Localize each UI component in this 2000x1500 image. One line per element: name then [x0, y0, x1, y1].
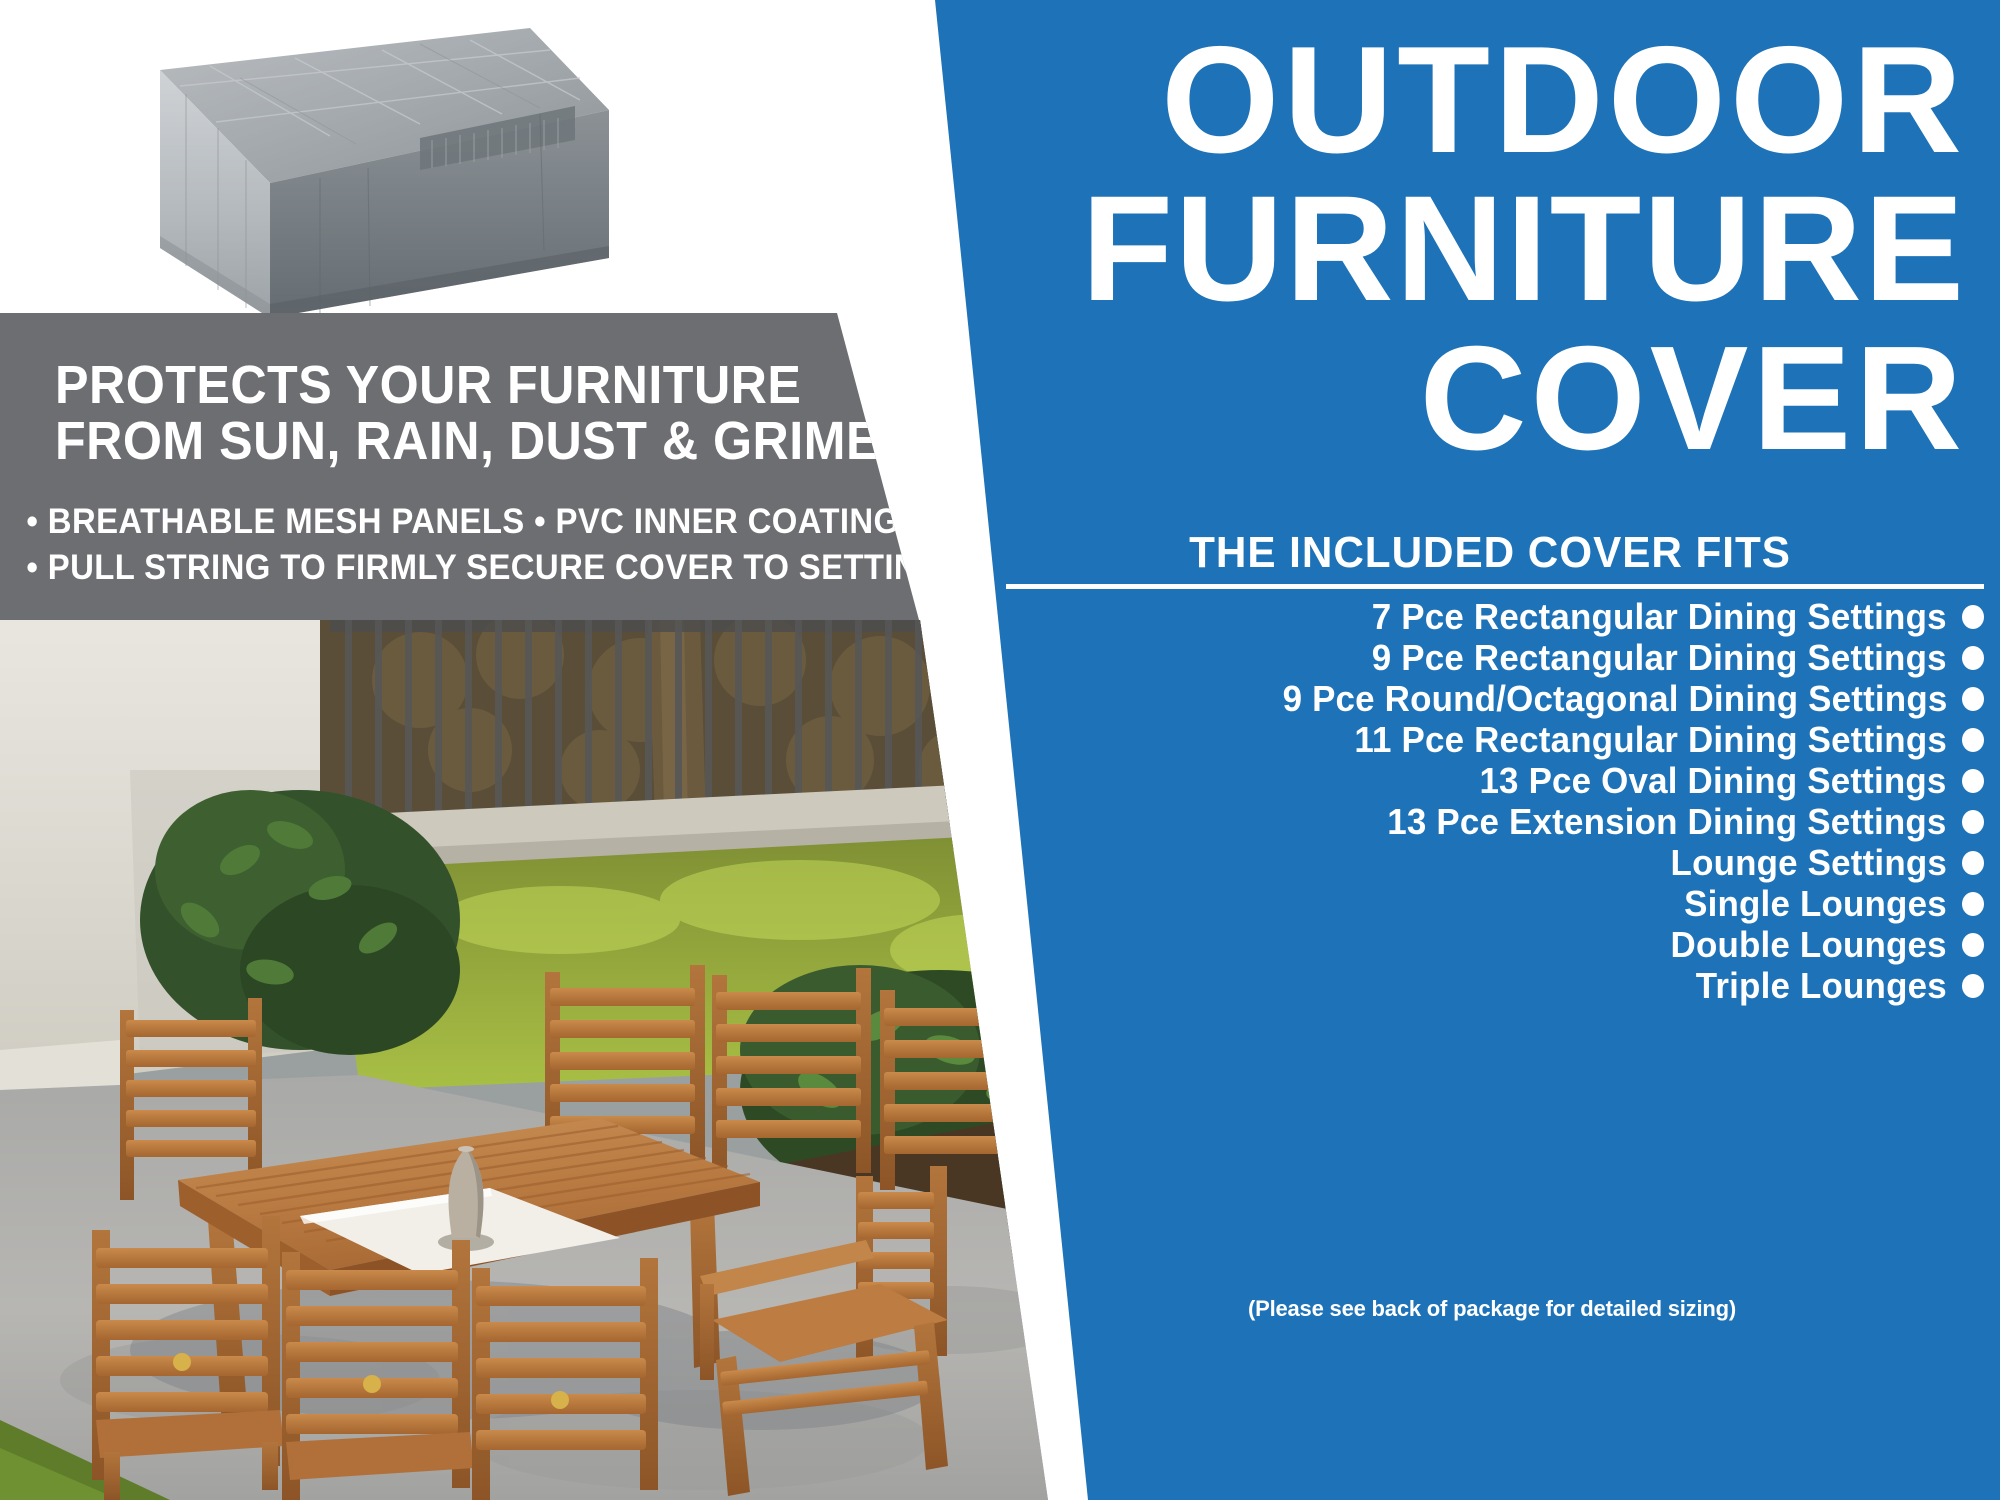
bullet-dot-icon — [1962, 974, 1984, 998]
bullet-dot-icon — [1962, 851, 1984, 875]
list-item: 9 Pce Round/Octagonal Dining Settings — [940, 678, 1984, 719]
cover-fits-item-label: 7 Pce Rectangular Dining Settings — [1372, 599, 1947, 635]
list-item: Triple Lounges — [940, 965, 1984, 1006]
features-headline: PROTECTS YOUR FURNITURE FROM SUN, RAIN, … — [55, 357, 790, 469]
cover-fits-heading: THE INCLUDED COVER FITS — [1020, 528, 1961, 578]
cover-fits-item-label: Single Lounges — [1684, 886, 1947, 922]
bullet-dot-icon — [1962, 769, 1984, 793]
features-headline-line-1: PROTECTS YOUR FURNITURE — [55, 357, 790, 413]
features-bullet-1: • BREATHABLE MESH PANELS • PVC INNER COA… — [26, 499, 853, 545]
list-item: Lounge Settings — [940, 842, 1984, 883]
bullet-dot-icon — [1962, 687, 1984, 711]
bullet-dot-icon — [1962, 728, 1984, 752]
cover-fits-list: 7 Pce Rectangular Dining Settings 9 Pce … — [940, 596, 1984, 1006]
cover-fits-item-label: Triple Lounges — [1696, 968, 1947, 1004]
furniture-cover-product-image — [120, 18, 610, 318]
product-package-artwork: PROTECTS YOUR FURNITURE FROM SUN, RAIN, … — [0, 0, 2000, 1500]
sizing-note: (Please see back of package for detailed… — [1000, 1296, 1984, 1322]
list-item: Single Lounges — [940, 883, 1984, 924]
features-bullet-2: • PULL STRING TO FIRMLY SECURE COVER TO … — [26, 545, 853, 591]
features-gray-panel: PROTECTS YOUR FURNITURE FROM SUN, RAIN, … — [0, 313, 960, 620]
list-item: Double Lounges — [940, 924, 1984, 965]
features-headline-line-2: FROM SUN, RAIN, DUST & GRIME — [55, 413, 790, 469]
bullet-dot-icon — [1962, 933, 1984, 957]
cover-fits-item-label: 9 Pce Rectangular Dining Settings — [1372, 640, 1947, 676]
patio-setting-photo — [0, 620, 1060, 1500]
bullet-dot-icon — [1962, 646, 1984, 670]
title-line-cover: COVER — [960, 326, 1980, 471]
list-item: 13 Pce Oval Dining Settings — [940, 760, 1984, 801]
cover-fits-item-label: Lounge Settings — [1671, 845, 1947, 881]
bullet-dot-icon — [1962, 605, 1984, 629]
cover-fits-item-label: 13 Pce Extension Dining Settings — [1388, 804, 1947, 840]
bullet-dot-icon — [1962, 810, 1984, 834]
list-item: 7 Pce Rectangular Dining Settings — [940, 596, 1984, 637]
list-item: 9 Pce Rectangular Dining Settings — [940, 637, 1984, 678]
cover-fits-item-label: 11 Pce Rectangular Dining Settings — [1354, 722, 1947, 758]
cover-fits-item-label: 13 Pce Oval Dining Settings — [1480, 763, 1947, 799]
list-item: 13 Pce Extension Dining Settings — [940, 801, 1984, 842]
list-item: 11 Pce Rectangular Dining Settings — [940, 719, 1984, 760]
product-title: OUTDOOR FURNITURE COVER — [960, 26, 1980, 471]
title-line-outdoor: OUTDOOR — [960, 26, 1980, 175]
bullet-dot-icon — [1962, 892, 1984, 916]
features-bullet-list: • BREATHABLE MESH PANELS • PVC INNER COA… — [0, 499, 880, 591]
title-line-furniture: FURNITURE — [960, 175, 1980, 322]
cover-fits-underline — [1006, 584, 1984, 589]
cover-fits-item-label: 9 Pce Round/Octagonal Dining Settings — [1282, 681, 1947, 717]
cover-fits-item-label: Double Lounges — [1671, 927, 1947, 963]
